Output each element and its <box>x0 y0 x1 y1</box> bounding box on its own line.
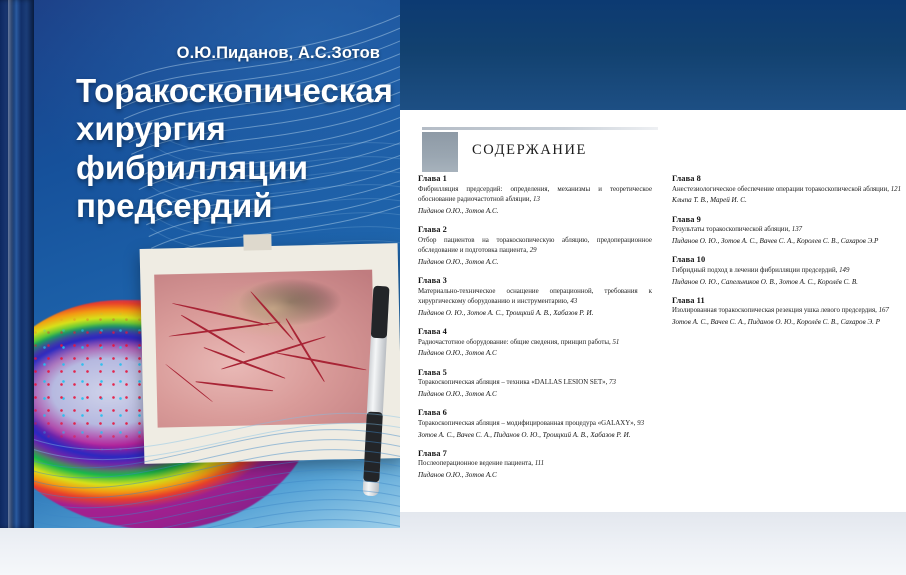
contents-entry[interactable]: Глава 3Материально-техническое оснащение… <box>418 276 652 318</box>
contents-entry-title: Анестезиологическое обеспечение операции… <box>672 185 902 195</box>
contents-entry-page: 137 <box>792 226 802 233</box>
contents-entry-number: Глава 8 <box>672 174 902 183</box>
contents-entry[interactable]: Глава 2Отбор пациентов на торакоскопичес… <box>418 225 652 267</box>
book-promo-spread: О.Ю.Пиданов, А.С.Зотов Торакоскопическая… <box>0 0 906 575</box>
cover-title-line-3: фибрилляции <box>76 149 386 187</box>
contents-entry-authors: Пиданов О. Ю., Сапельников О. В., Зотов … <box>672 277 902 287</box>
contents-entry[interactable]: Глава 7Послеоперационное ведение пациент… <box>418 449 652 481</box>
contents-column-right: Глава 8Анестезиологическое обеспечение о… <box>672 174 902 337</box>
book-spine-highlight <box>8 0 14 528</box>
book-spine <box>0 0 34 528</box>
contents-entry[interactable]: Глава 5Торакоскопическая абляция – техни… <box>418 368 652 400</box>
contents-heading-rule <box>422 127 658 130</box>
contents-entry[interactable]: Глава 8Анестезиологическое обеспечение о… <box>672 174 902 206</box>
contents-entry-authors: Зотов А. С., Вачев С. А., Пиданов О. Ю.,… <box>418 430 652 440</box>
endoscopic-view-image <box>154 270 375 428</box>
contents-entry[interactable]: Глава 1Фибрилляция предсердий: определен… <box>418 174 652 216</box>
contents-entry-page: 93 <box>637 420 644 427</box>
contents-entry-page: 13 <box>533 196 540 203</box>
contents-badge-square <box>422 132 458 172</box>
contents-entry-title: Послеоперационное ведение пациента, 111 <box>418 459 652 469</box>
contents-entry[interactable]: Глава 4Радиочастотное оборудование: общи… <box>418 327 652 359</box>
contents-entry-authors: Пиданов О.Ю., Зотов А.С <box>418 389 652 399</box>
contents-entry-authors: Зотов А. С., Вачев С. А., Пиданов О. Ю.,… <box>672 317 902 327</box>
contents-entry-number: Глава 5 <box>418 368 652 377</box>
contents-entry[interactable]: Глава 6Торакоскопическая абляция – модиф… <box>418 408 652 440</box>
contents-entry-number: Глава 9 <box>672 215 902 224</box>
contents-entry-title: Торакоскопическая абляция – техника «DAL… <box>418 378 652 388</box>
cover-title-line-2: хирургия <box>76 110 386 148</box>
cover-authors: О.Ю.Пиданов, А.С.Зотов <box>80 44 380 63</box>
contents-entry-page: 51 <box>612 339 619 346</box>
contents-entry-title: Гибридный подход в лечении фибрилляции п… <box>672 266 902 276</box>
contents-entry-page: 149 <box>839 267 849 274</box>
contents-entry-authors: Пиданов О.Ю., Зотов А.С. <box>418 257 652 267</box>
contents-entry-authors: Клыпа Т. В., Марей И. С. <box>672 195 902 205</box>
contents-column-left: Глава 1Фибрилляция предсердий: определен… <box>418 174 652 490</box>
contents-entry-title: Изолированная торакоскопическая резекция… <box>672 306 902 316</box>
contents-entry-title: Торакоскопическая абляция – модифицирова… <box>418 419 652 429</box>
contents-entry-number: Глава 10 <box>672 255 902 264</box>
cover-title: Торакоскопическая хирургия фибрилляции п… <box>76 72 386 225</box>
contents-entry-page: 121 <box>891 186 901 193</box>
contents-entry-page: 73 <box>609 379 616 386</box>
contents-entry-authors: Пиданов О. Ю., Зотов А. С., Троицкий А. … <box>418 308 652 318</box>
endoscopic-monitor <box>140 243 400 464</box>
contents-entry-title: Материально-техническое оснащение операц… <box>418 287 652 308</box>
contents-heading: СОДЕРЖАНИЕ <box>472 142 587 159</box>
contents-entry[interactable]: Глава 11Изолированная торакоскопическая … <box>672 296 902 328</box>
contents-entry-title: Результаты торакоскопической абляции, 13… <box>672 225 902 235</box>
contents-entry-page: 111 <box>535 460 544 467</box>
monitor-stand <box>243 234 271 251</box>
contents-entry-title: Фибрилляция предсердий: определения, мех… <box>418 185 652 206</box>
contents-entry-number: Глава 7 <box>418 449 652 458</box>
contents-entry[interactable]: Глава 10Гибридный подход в лечении фибри… <box>672 255 902 287</box>
top-blue-band <box>398 0 906 110</box>
contents-page: СОДЕРЖАНИЕ Глава 1Фибрилляция предсердий… <box>400 110 906 512</box>
contents-entry-number: Глава 3 <box>418 276 652 285</box>
contents-entry-number: Глава 11 <box>672 296 902 305</box>
contents-entry-number: Глава 6 <box>418 408 652 417</box>
contents-entry-title: Радиочастотное оборудование: общие сведе… <box>418 338 652 348</box>
contents-entry-authors: Пиданов О.Ю., Зотов А.С <box>418 348 652 358</box>
book-cover: О.Ю.Пиданов, А.С.Зотов Торакоскопическая… <box>0 0 400 528</box>
contents-columns: Глава 1Фибрилляция предсердий: определен… <box>400 174 906 504</box>
contents-entry-title: Отбор пациентов на торакоскопическую абл… <box>418 236 652 257</box>
contents-entry[interactable]: Глава 9Результаты торакоскопической абля… <box>672 215 902 247</box>
contents-entry-authors: Пиданов О.Ю., Зотов А.С <box>418 470 652 480</box>
cover-title-line-4: предсердий <box>76 187 386 225</box>
contents-entry-number: Глава 1 <box>418 174 652 183</box>
contents-entry-authors: Пиданов О. Ю., Зотов А. С., Вачев С. А.,… <box>672 236 902 246</box>
contents-entry-page: 29 <box>530 247 537 254</box>
cover-title-line-1: Торакоскопическая <box>76 72 386 110</box>
contents-entry-authors: Пиданов О.Ю., Зотов А.С. <box>418 206 652 216</box>
contents-entry-number: Глава 2 <box>418 225 652 234</box>
contents-entry-page: 167 <box>879 307 889 314</box>
contents-entry-page: 43 <box>570 298 577 305</box>
contents-entry-number: Глава 4 <box>418 327 652 336</box>
